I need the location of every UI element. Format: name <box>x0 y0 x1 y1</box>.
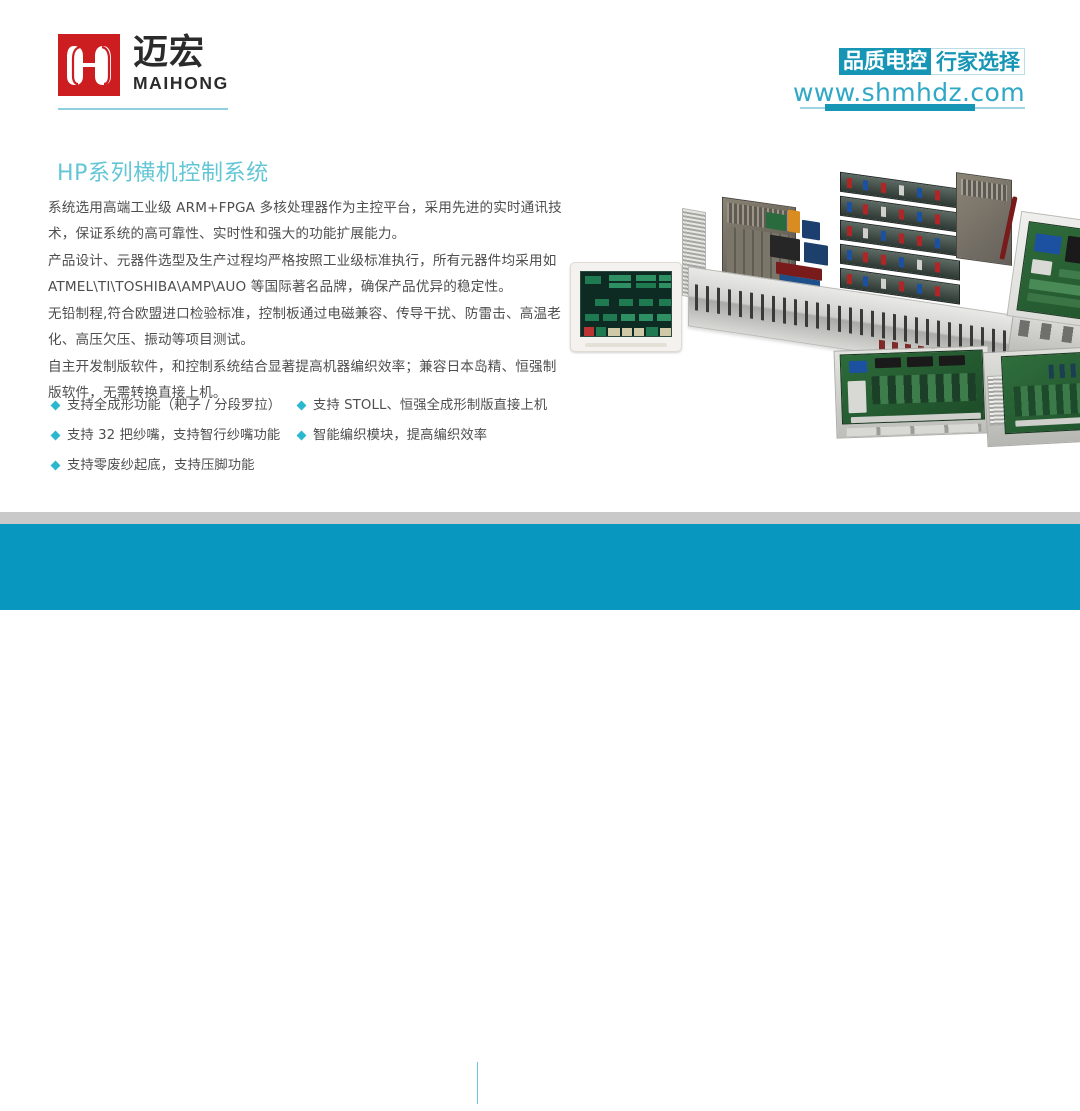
company-name-cn: 苏州特点电子科技有限公司 <box>178 1062 527 1092</box>
diamond-bullet-icon <box>297 401 307 411</box>
list-item: 支持 32 把纱嘴，支持智行纱嘴功能 <box>52 423 302 453</box>
product-photo-group <box>560 188 1080 493</box>
phone-value: 0512-52221901 <box>537 1092 642 1107</box>
list-item: 智能编织模块，提高编织效率 <box>298 423 573 453</box>
page-footer: 苏州特点电子科技有限公司 SUZHOU TEDIAN ELECTRONIC TE… <box>0 524 1080 610</box>
header-website[interactable]: www.shmhdz.com <box>793 78 1025 107</box>
address-value: 江苏省常熟市海虞镇叶袁路23号 <box>537 1069 723 1084</box>
paragraph-1: 系统选用高端工业级 ARM+FPGA 多核处理器作为主控平台，采用先进的实时通讯… <box>48 196 563 247</box>
footer-address-line: 地址：江苏省常熟市海虞镇叶袁路23号 <box>498 1065 980 1088</box>
list-item: 支持 STOLL、恒强全成形制版直接上机 <box>298 393 573 423</box>
footer-contact: 地址：江苏省常熟市海虞镇叶袁路23号 电话：0512-52221901传真：05… <box>498 1065 980 1111</box>
feature-label: 智能编织模块，提高编织效率 <box>313 423 487 449</box>
driver-board-tray <box>834 345 992 438</box>
list-item: 支持全成形功能（耙子 / 分段罗拉） <box>52 393 302 423</box>
web-label: 网址： <box>822 1092 861 1107</box>
rack-module-cage <box>840 172 958 304</box>
hmi-screen <box>580 271 672 337</box>
company-name-en: SUZHOU TEDIAN ELECTRONIC TECHNOLOGY CO.,… <box>178 1095 527 1109</box>
brochure-page: 迈宏 MAIHONG 品质电控 行家选择 www.shmhdz.com HP系列… <box>0 0 1080 610</box>
page-header: 迈宏 MAIHONG 品质电控 行家选择 www.shmhdz.com <box>0 0 1080 120</box>
feature-column-left: 支持全成形功能（耙子 / 分段罗拉） 支持 32 把纱嘴，支持智行纱嘴功能 支持… <box>52 393 302 483</box>
diamond-bullet-icon <box>51 431 61 441</box>
fax-value: 0512-52229396 <box>699 1092 804 1107</box>
body-copy: 系统选用高端工业级 ARM+FPGA 多核处理器作为主控平台，采用先进的实时通讯… <box>48 196 563 408</box>
brand-name-cn: 迈宏 <box>133 36 229 72</box>
footer-company: 苏州特点电子科技有限公司 SUZHOU TEDIAN ELECTRONIC TE… <box>178 1062 527 1109</box>
hmi-bezel-strip <box>585 343 667 347</box>
footer-divider-band <box>0 512 1080 524</box>
main-control-rack <box>710 188 1080 403</box>
brand-lockup: 迈宏 MAIHONG <box>58 34 229 96</box>
brand-text: 迈宏 MAIHONG <box>133 36 229 95</box>
header-slogan: 品质电控 行家选择 <box>793 48 1025 75</box>
feature-label: 支持 STOLL、恒强全成形制版直接上机 <box>313 393 547 419</box>
footer-separator <box>477 1062 478 1104</box>
fax-label: 传真： <box>660 1092 699 1107</box>
feature-label: 支持零废纱起底，支持压脚功能 <box>67 453 255 479</box>
page-title: HP系列横机控制系统 <box>57 155 269 187</box>
brand-name-en: MAIHONG <box>133 73 229 94</box>
feature-label: 支持 32 把纱嘴，支持智行纱嘴功能 <box>67 423 280 449</box>
slogan-highlight: 品质电控 <box>839 48 931 75</box>
list-item: 支持零废纱起底，支持压脚功能 <box>52 453 302 483</box>
web-value[interactable]: www.shmhdz.com <box>861 1092 980 1107</box>
phone-label: 电话： <box>498 1092 537 1107</box>
slogan-outline: 行家选择 <box>931 48 1025 75</box>
feature-column-right: 支持 STOLL、恒强全成形制版直接上机 智能编织模块，提高编织效率 <box>298 393 573 453</box>
feature-label: 支持全成形功能（耙子 / 分段罗拉） <box>67 393 281 419</box>
diamond-bullet-icon <box>297 431 307 441</box>
power-board-tray <box>983 344 1080 447</box>
hmi-touch-panel <box>570 262 682 352</box>
diamond-bullet-icon <box>51 461 61 471</box>
maihong-h-monogram-icon <box>58 34 120 96</box>
paragraph-2: 产品设计、元器件选型及生产过程均严格按照工业级标准执行，所有元器件均采用如ATM… <box>48 249 563 300</box>
brand-underline <box>58 108 228 110</box>
header-rule-accent <box>825 104 975 111</box>
header-right-block: 品质电控 行家选择 www.shmhdz.com <box>793 48 1025 107</box>
diamond-bullet-icon <box>51 401 61 411</box>
footer-phone-line: 电话：0512-52221901传真：0512-52229396网址：www.s… <box>498 1088 980 1111</box>
paragraph-3: 无铅制程,符合欧盟进口检验标准，控制板通过电磁兼容、传导干扰、防雷击、高温老化、… <box>48 302 563 353</box>
address-label: 地址： <box>498 1069 537 1084</box>
